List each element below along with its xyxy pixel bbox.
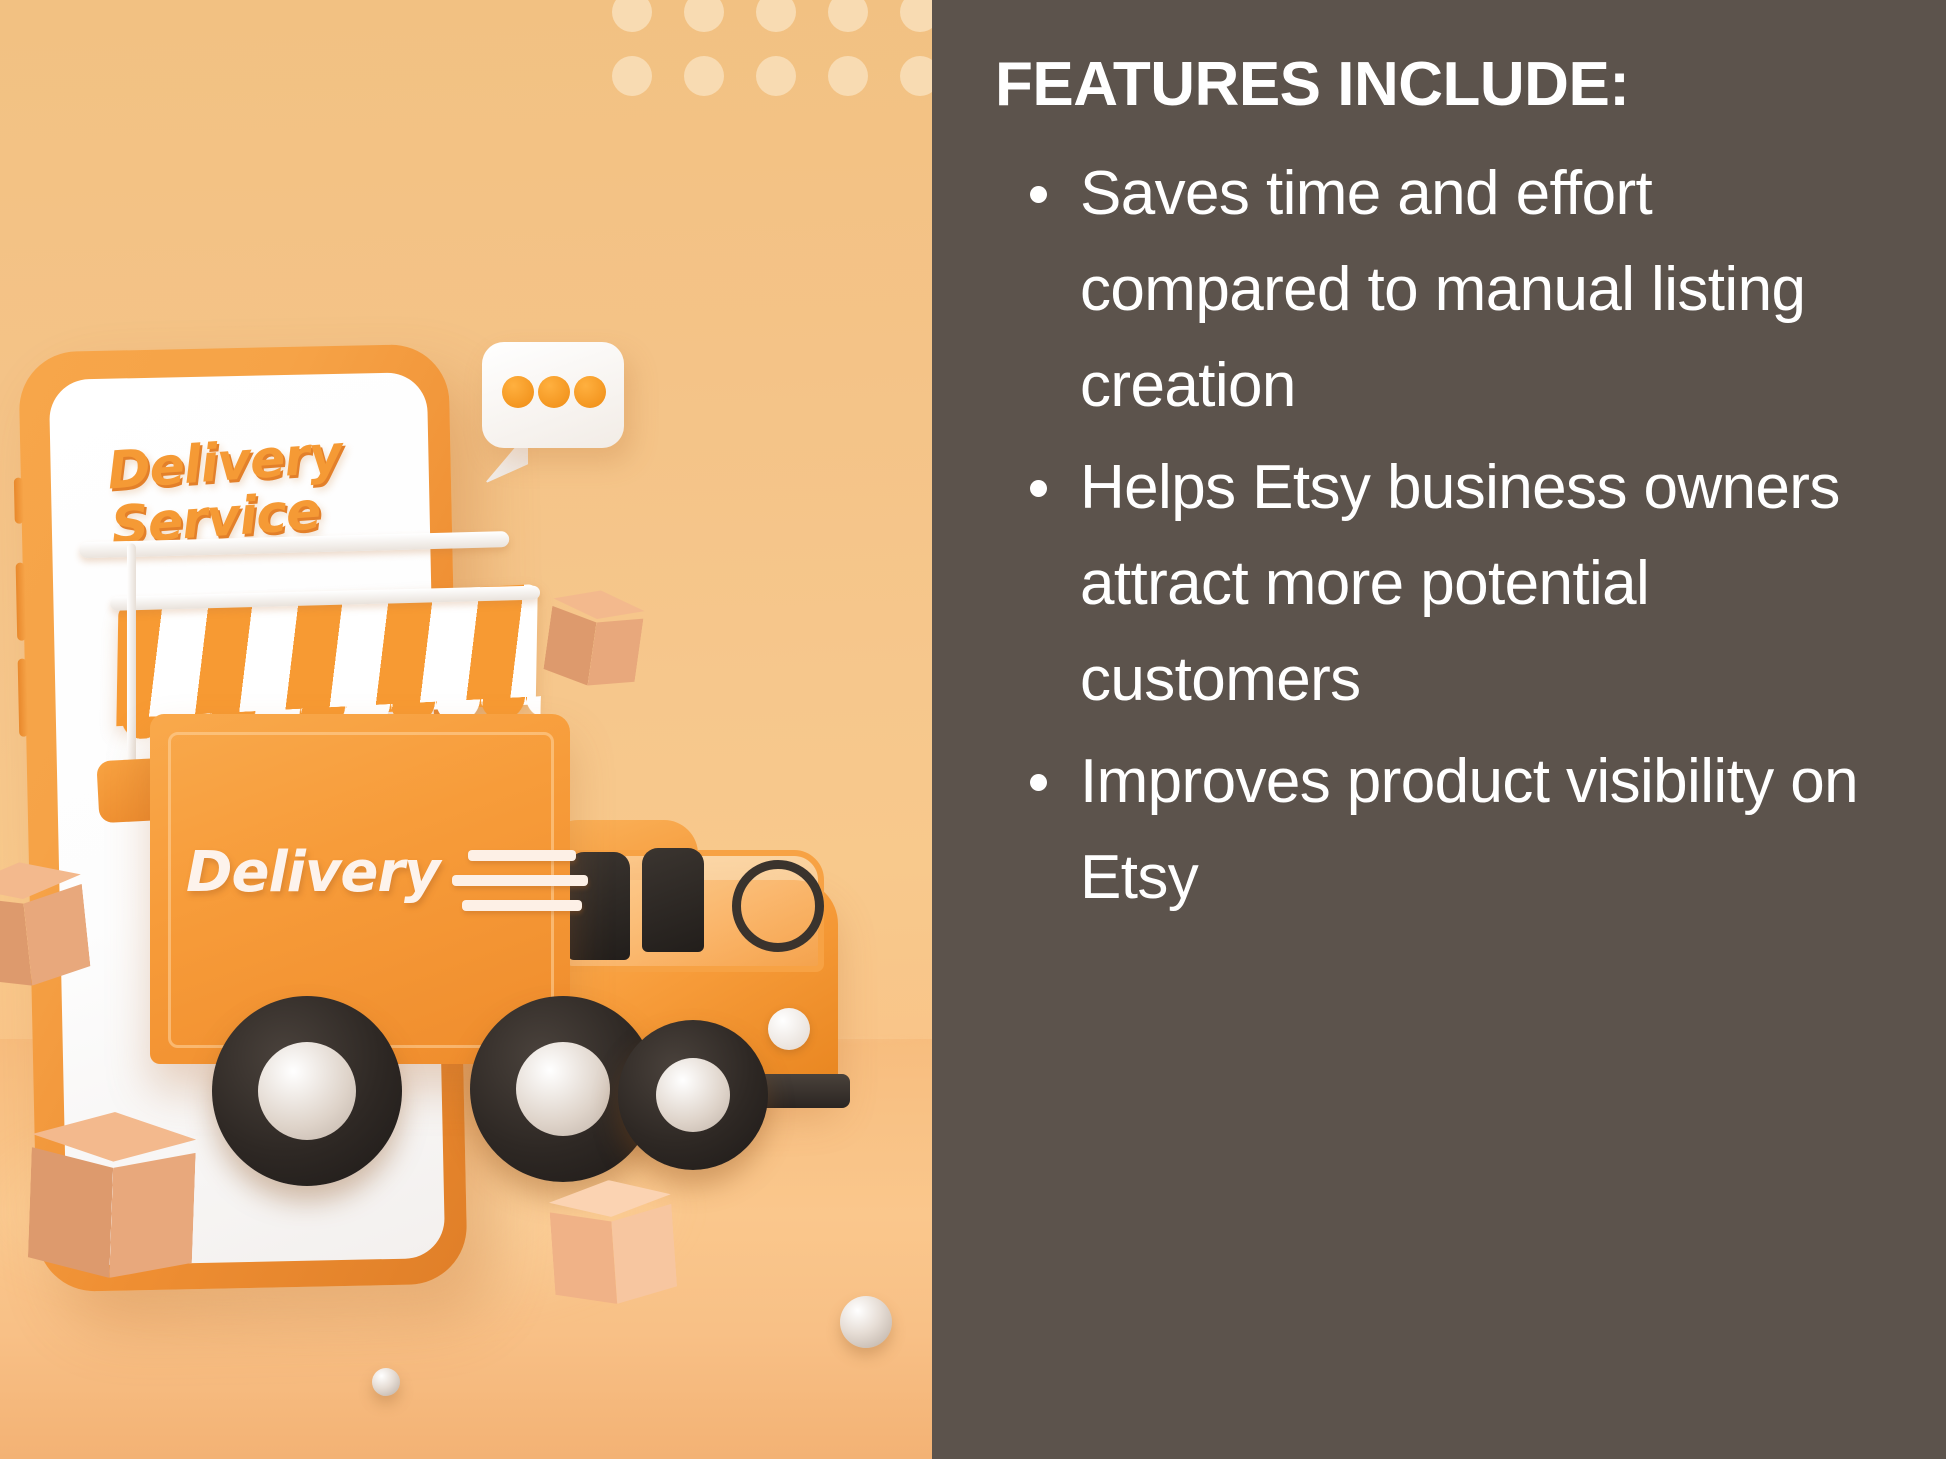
typing-dot — [538, 376, 570, 408]
phone-side-button — [14, 478, 24, 524]
truck-wheel — [618, 1020, 768, 1170]
bullet-dot-icon — [1030, 480, 1047, 497]
bullet-dot-icon — [1030, 186, 1047, 203]
list-item-text: Saves time and effort compared to manual… — [1080, 159, 1805, 420]
truck-wheel — [212, 996, 402, 1186]
list-item: Helps Etsy business owners attract more … — [1020, 440, 1930, 728]
truck-seat — [642, 848, 704, 952]
features-panel: FEATURES INCLUDE: Saves time and effort … — [932, 0, 1946, 1459]
list-item-text: Helps Etsy business owners attract more … — [1080, 453, 1840, 714]
chat-bubble-icon — [482, 342, 624, 448]
features-heading: FEATURES INCLUDE: — [995, 52, 1895, 117]
steering-wheel-icon — [732, 860, 824, 952]
typing-dot — [502, 376, 534, 408]
wheel-hub — [516, 1042, 610, 1136]
package-cube — [27, 1109, 198, 1290]
delivery-truck: Delivery — [150, 700, 910, 1260]
metal-sphere — [840, 1296, 892, 1348]
package-cube — [0, 856, 92, 998]
dot-grid-decoration — [612, 0, 932, 102]
bullet-dot-icon — [1030, 774, 1047, 791]
phone-volume-up-button — [16, 563, 27, 641]
typing-dot — [574, 376, 606, 408]
list-item: Improves product visibility on Etsy — [1020, 734, 1930, 926]
wheel-hub — [258, 1042, 356, 1140]
truck-logo-text: Delivery — [186, 840, 439, 905]
features-list: Saves time and effort compared to manual… — [1020, 146, 1930, 932]
speed-line — [452, 875, 588, 886]
metal-sphere — [372, 1368, 400, 1396]
speed-line — [462, 900, 582, 911]
package-cube — [541, 584, 646, 696]
list-item-text: Improves product visibility on Etsy — [1080, 747, 1858, 912]
truck-headlight — [768, 1008, 810, 1050]
speed-line — [468, 850, 576, 861]
delivery-illustration: Delivery Service — [0, 0, 932, 1459]
awning-pole — [127, 543, 136, 773]
wheel-hub — [656, 1058, 730, 1132]
slide: Delivery Service — [0, 0, 1946, 1459]
phone-volume-down-button — [18, 658, 29, 736]
package-cube — [548, 1176, 679, 1312]
list-item: Saves time and effort compared to manual… — [1020, 146, 1930, 434]
